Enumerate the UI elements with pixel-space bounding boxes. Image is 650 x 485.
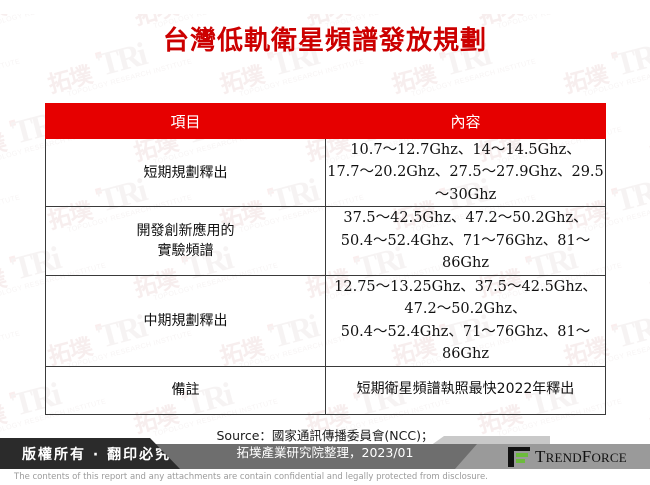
- row-item-label: 短期規劃釋出: [46, 139, 326, 207]
- watermark-cjk: 拓墣: [216, 55, 267, 99]
- watermark-subtitle: TOPOLOGY RESEARCH INSTITUTE: [0, 194, 21, 234]
- column-header-item: 項目: [46, 104, 326, 139]
- watermark-cjk: 拓墣: [560, 55, 611, 99]
- column-header-content: 內容: [326, 104, 606, 139]
- row-item-label: 備註: [46, 366, 326, 414]
- disclaimer-text: The contents of this report and any atta…: [0, 469, 650, 485]
- row-content: 10.7～12.7Ghz、14～14.5Ghz、 17.7～20.2Ghz、27…: [326, 139, 606, 207]
- top-fade: [0, 0, 650, 14]
- copyright-banner: 版權所有 · 翻印必究: [0, 438, 180, 469]
- table-header-row: 項目 內容: [46, 104, 606, 139]
- watermark-subtitle: TOPOLOGY RESEARCH INSTITUTE: [0, 58, 21, 98]
- watermark-subtitle: TOPOLOGY RESEARCH INSTITUTE: [67, 58, 193, 98]
- table-row: 備註 短期衛星頻譜執照最快2022年釋出: [46, 366, 606, 414]
- brand-f: F: [582, 447, 592, 466]
- watermark-subtitle: TOPOLOGY RESEARCH INSTITUTE: [0, 330, 21, 370]
- trendforce-mark-icon: [508, 447, 530, 467]
- item-line: 開發創新應用的: [46, 221, 325, 241]
- content-line: 37.5～42.5Ghz、47.2～50.2Ghz、: [326, 207, 605, 229]
- watermark-subtitle: TOPOLOGY RESEARCH INSTITUTE: [239, 58, 365, 98]
- watermark-cjk: 拓墣: [388, 55, 439, 99]
- row-item-label: 中期規劃釋出: [46, 275, 326, 366]
- watermark-dot: [9, 391, 16, 398]
- slide-canvas: 拓墣TRiTOPOLOGY RESEARCH INSTITUTE拓墣TRiTOP…: [0, 0, 650, 485]
- watermark-dot: [9, 255, 16, 262]
- watermark-cjk: 拓墣: [44, 55, 95, 99]
- row-content: 12.75～13.25Ghz、37.5～42.5Ghz、47.2～50.2Ghz…: [326, 275, 606, 366]
- watermark-cjk: 拓墣: [646, 123, 650, 167]
- table-row: 短期規劃釋出 10.7～12.7Ghz、14～14.5Ghz、 17.7～20.…: [46, 139, 606, 207]
- watermark-dot: [9, 119, 16, 126]
- watermark-acronym: TRi: [611, 173, 650, 221]
- row-item-label: 開發創新應用的 實驗頻譜: [46, 207, 326, 275]
- content-line: 50.4～52.4Ghz、71～76Ghz、81～86Ghz: [326, 321, 605, 366]
- item-line: 實驗頻譜: [46, 241, 325, 261]
- page-title: 台灣低軌衛星頻譜發放規劃: [0, 20, 650, 57]
- brand-rend: REND: [546, 450, 582, 465]
- spectrum-plan-table: 項目 內容 短期規劃釋出 10.7～12.7Ghz、14～14.5Ghz、 17…: [45, 103, 606, 415]
- watermark-cjk: 拓墣: [0, 123, 9, 167]
- copyright-text: 版權所有 · 翻印必究: [22, 444, 171, 464]
- row-content: 短期衛星頻譜執照最快2022年釋出: [326, 366, 606, 414]
- brand-orce: ORCE: [591, 450, 626, 465]
- watermark-tile: 拓墣TRiTOPOLOGY RESEARCH INSTITUTE: [642, 221, 650, 331]
- trendforce-logo: TRENDFORCE: [508, 445, 627, 468]
- watermark-cjk: 拓墣: [0, 259, 9, 303]
- content-line: 12.75～13.25Ghz、37.5～42.5Ghz、47.2～50.2Ghz…: [326, 276, 605, 321]
- table-row: 中期規劃釋出 12.75～13.25Ghz、37.5～42.5Ghz、47.2～…: [46, 275, 606, 366]
- content-line: 17.7～20.2Ghz、27.5～27.9Ghz、29.5～30Ghz: [326, 161, 605, 206]
- table-row: 開發創新應用的 實驗頻譜 37.5～42.5Ghz、47.2～50.2Ghz、 …: [46, 207, 606, 275]
- content-line: 10.7～12.7Ghz、14～14.5Ghz、: [326, 139, 605, 161]
- watermark-dot: [611, 187, 618, 194]
- content-line: 50.4～52.4Ghz、71～76Ghz、81～86Ghz: [326, 230, 605, 275]
- brand-t: T: [535, 447, 546, 466]
- watermark-tile: 拓墣TRiTOPOLOGY RESEARCH INSTITUTE: [642, 85, 650, 195]
- watermark-subtitle: TOPOLOGY RESEARCH INSTITUTE: [411, 58, 537, 98]
- watermark-cjk: 拓墣: [646, 259, 650, 303]
- watermark-dot: [611, 323, 618, 330]
- row-content: 37.5～42.5Ghz、47.2～50.2Ghz、 50.4～52.4Ghz、…: [326, 207, 606, 275]
- watermark-acronym: TRi: [611, 309, 650, 357]
- trendforce-wordmark: TRENDFORCE: [535, 447, 627, 467]
- watermark-subtitle: TOPOLOGY RESEARCH INSTITUTE: [583, 58, 650, 98]
